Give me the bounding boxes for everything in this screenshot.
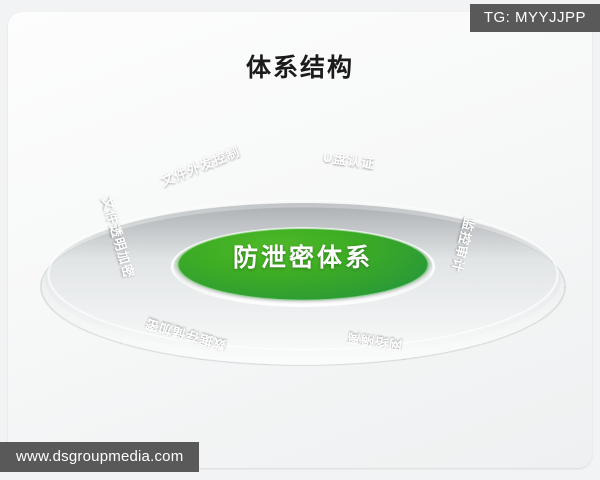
segment-label-usb-authentication: U盘认证 [322,146,377,172]
site-watermark-badge: www.dsgroupmedia.com [0,442,199,472]
telegram-watermark-badge: TG: MYYJJPP [470,4,600,32]
donut-3d-stage [0,200,600,364]
page-title: 体系结构 [0,48,600,84]
donut-diagram: 文件外发控制 U盘认证 监控审计 网络隔离 数据存储加密 文件透明加密 防泄密体… [48,118,558,418]
segment-label-file-outbound-control: 文件外发控制 [158,141,243,190]
slide-canvas: 体系结构 文件外发控制 U盘认证 监控审计 网络隔离 数据存储加密 文件透明加密… [0,0,600,480]
